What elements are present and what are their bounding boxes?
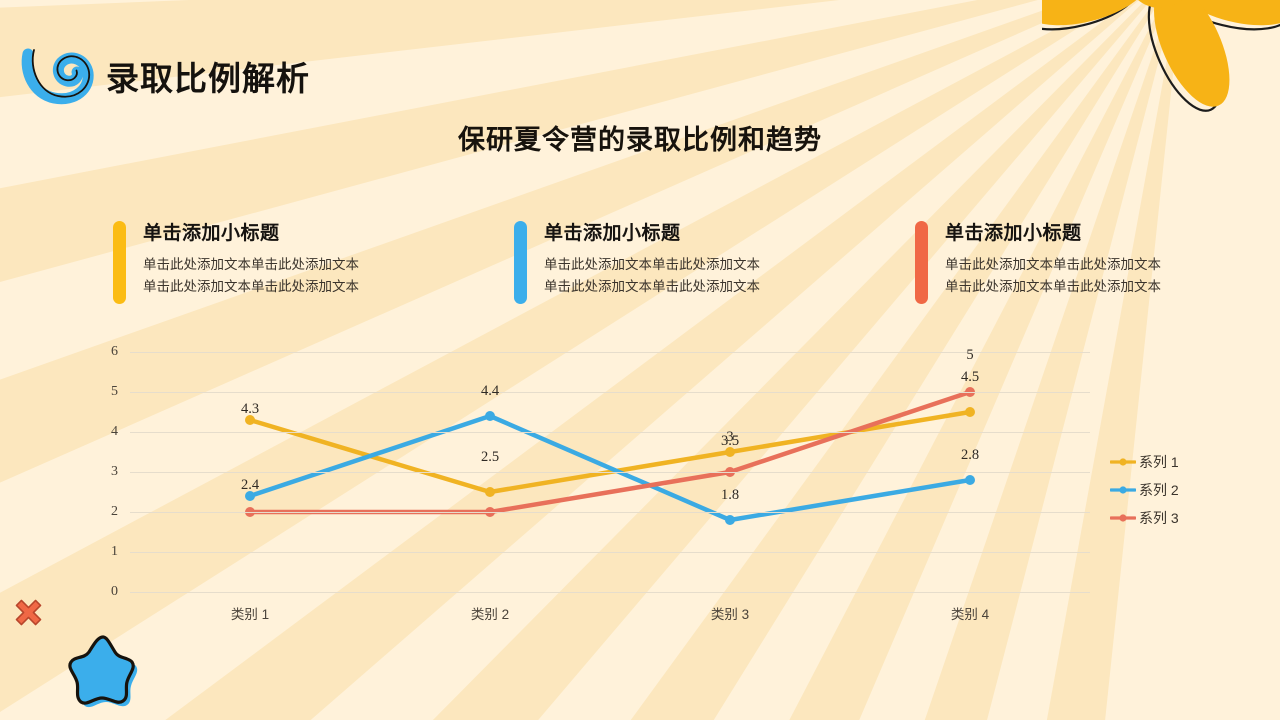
slide-canvas: 录取比例解析 保研夏令营的录取比例和趋势 单击添加小标题单击此处添加文本单击此处… bbox=[0, 0, 1280, 720]
y-axis-tick-label: 4 bbox=[111, 424, 130, 440]
x-axis-tick-label: 类别 4 bbox=[951, 603, 989, 623]
chart-gridline bbox=[130, 432, 1090, 433]
brand-header: 录取比例解析 bbox=[18, 40, 310, 112]
chart-gridline bbox=[130, 352, 1090, 353]
series-data-label: 4.3 bbox=[241, 401, 259, 418]
series-marker bbox=[725, 515, 735, 525]
x-axis-tick-label: 类别 3 bbox=[711, 603, 749, 623]
column-text[interactable]: 单击此处添加文本单击此处添加文本单击此处添加文本单击此处添加文本 bbox=[544, 254, 762, 298]
series-data-label: 2.4 bbox=[241, 477, 259, 494]
feature-column[interactable]: 单击添加小标题单击此处添加文本单击此处添加文本单击此处添加文本单击此处添加文本 bbox=[514, 218, 767, 304]
x-axis-tick-label: 类别 2 bbox=[471, 603, 509, 623]
column-body: 单击添加小标题单击此处添加文本单击此处添加文本单击此处添加文本单击此处添加文本 bbox=[143, 218, 361, 304]
feature-column[interactable]: 单击添加小标题单击此处添加文本单击此处添加文本单击此处添加文本单击此处添加文本 bbox=[113, 218, 366, 304]
legend-swatch-icon bbox=[1110, 511, 1136, 525]
chart-plot-area: 0123456类别 1类别 2类别 3类别 44.32.53.54.52.44.… bbox=[130, 352, 1090, 592]
column-heading[interactable]: 单击添加小标题 bbox=[544, 218, 762, 245]
chart-legend: 系列 1系列 2系列 3 bbox=[1110, 448, 1179, 532]
page-title: 录取比例解析 bbox=[106, 52, 310, 100]
sparkle-x-icon bbox=[12, 596, 45, 629]
chart-gridline bbox=[130, 472, 1090, 473]
legend-swatch-icon bbox=[1110, 483, 1136, 497]
column-body: 单击添加小标题单击此处添加文本单击此处添加文本单击此处添加文本单击此处添加文本 bbox=[544, 218, 762, 304]
y-axis-tick-label: 0 bbox=[111, 584, 130, 600]
y-axis-tick-label: 1 bbox=[111, 544, 130, 560]
series-data-label: 5 bbox=[966, 347, 973, 364]
flower-icon bbox=[1042, 0, 1280, 127]
series-line bbox=[250, 412, 970, 492]
series-data-label: 2.8 bbox=[961, 447, 979, 464]
feature-column[interactable]: 单击添加小标题单击此处添加文本单击此处添加文本单击此处添加文本单击此处添加文本 bbox=[915, 218, 1168, 304]
series-data-label: 1.8 bbox=[721, 487, 739, 504]
series-data-label: 4.4 bbox=[481, 383, 499, 400]
y-axis-tick-label: 5 bbox=[111, 384, 130, 400]
swirl-logo-icon bbox=[18, 40, 100, 112]
chart-gridline bbox=[130, 592, 1090, 593]
series-marker bbox=[965, 475, 975, 485]
series-data-label: 3 bbox=[726, 429, 733, 446]
y-axis-tick-label: 6 bbox=[111, 344, 130, 360]
legend-label: 系列 2 bbox=[1139, 480, 1179, 500]
line-chart: 0123456类别 1类别 2类别 3类别 44.32.53.54.52.44.… bbox=[100, 352, 1190, 612]
legend-item[interactable]: 系列 3 bbox=[1110, 504, 1179, 532]
legend-label: 系列 3 bbox=[1139, 508, 1179, 528]
column-body: 单击添加小标题单击此处添加文本单击此处添加文本单击此处添加文本单击此处添加文本 bbox=[945, 218, 1163, 304]
chart-title: 保研夏令营的录取比例和趋势 bbox=[0, 118, 1280, 157]
chart-gridline bbox=[130, 552, 1090, 553]
chart-gridline bbox=[130, 512, 1090, 513]
y-axis-tick-label: 3 bbox=[111, 464, 130, 480]
column-text[interactable]: 单击此处添加文本单击此处添加文本单击此处添加文本单击此处添加文本 bbox=[945, 254, 1163, 298]
x-axis-tick-label: 类别 1 bbox=[231, 603, 269, 623]
legend-swatch-icon bbox=[1110, 455, 1136, 469]
series-data-label: 4.5 bbox=[961, 369, 979, 386]
column-text[interactable]: 单击此处添加文本单击此处添加文本单击此处添加文本单击此处添加文本 bbox=[143, 254, 361, 298]
chart-gridline bbox=[130, 392, 1090, 393]
series-marker bbox=[485, 487, 495, 497]
star-icon bbox=[57, 627, 147, 715]
column-accent-bar bbox=[113, 221, 126, 304]
column-heading[interactable]: 单击添加小标题 bbox=[143, 218, 361, 245]
y-axis-tick-label: 2 bbox=[111, 504, 130, 520]
column-accent-bar bbox=[514, 221, 527, 304]
feature-columns: 单击添加小标题单击此处添加文本单击此处添加文本单击此处添加文本单击此处添加文本单… bbox=[113, 218, 1168, 304]
series-marker bbox=[485, 411, 495, 421]
legend-label: 系列 1 bbox=[1139, 452, 1179, 472]
legend-item[interactable]: 系列 2 bbox=[1110, 476, 1179, 504]
series-data-label: 2.5 bbox=[481, 449, 499, 466]
series-marker bbox=[965, 407, 975, 417]
column-accent-bar bbox=[915, 221, 928, 304]
column-heading[interactable]: 单击添加小标题 bbox=[945, 218, 1163, 245]
legend-item[interactable]: 系列 1 bbox=[1110, 448, 1179, 476]
